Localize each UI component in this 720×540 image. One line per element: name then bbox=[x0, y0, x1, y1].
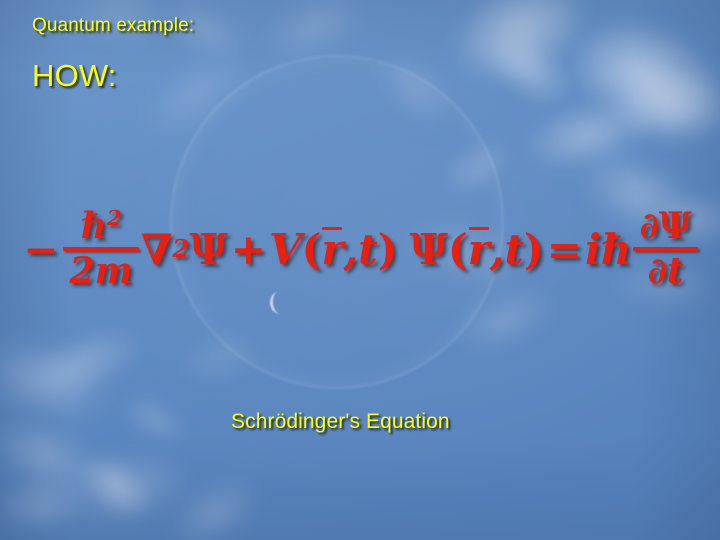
equation-caption: Schrödinger's Equation bbox=[231, 411, 450, 432]
eq-equals-sign: = bbox=[544, 225, 585, 274]
eq-time-variable: t bbox=[504, 225, 523, 274]
eq-comma: , bbox=[344, 225, 359, 274]
eq-open-paren: ( bbox=[448, 225, 468, 274]
presentation-slide: Quantum example: HOW: − ℏ2 2m ∇2 Ψ + V (… bbox=[0, 0, 720, 540]
slide-subtitle: Quantum example: bbox=[32, 16, 194, 35]
eq-fraction-dpsi-over-dt: ∂Ψ ∂t bbox=[633, 208, 697, 290]
schrodinger-equation: − ℏ2 2m ∇2 Ψ + V ( r , t ) Ψ ( r , t ) =… bbox=[0, 186, 720, 312]
eq-nabla: ∇ bbox=[141, 225, 173, 274]
eq-denominator: 2m bbox=[63, 253, 138, 290]
eq-position-vector: r bbox=[321, 225, 343, 274]
slide-heading: HOW: bbox=[32, 60, 117, 91]
eq-psi: Ψ bbox=[659, 204, 692, 247]
eq-partial: ∂ bbox=[639, 204, 658, 247]
eq-exponent: 2 bbox=[107, 205, 122, 230]
eq-imaginary-unit: i bbox=[585, 225, 601, 274]
eq-numerator: ℏ2 bbox=[75, 208, 128, 245]
eq-close-paren: ) bbox=[378, 225, 398, 274]
eq-psi: Ψ bbox=[189, 225, 227, 274]
eq-numerator: ∂Ψ bbox=[633, 208, 697, 245]
eq-plus-sign: + bbox=[228, 225, 269, 274]
eq-hbar: ℏ bbox=[81, 204, 107, 247]
eq-position-vector: r bbox=[468, 225, 490, 274]
eq-open-paren: ( bbox=[302, 225, 322, 274]
eq-comma: , bbox=[490, 225, 505, 274]
eq-potential-V: V bbox=[269, 225, 302, 274]
eq-minus-sign: − bbox=[20, 225, 61, 274]
eq-time-variable: t bbox=[358, 225, 377, 274]
eq-denominator: ∂t bbox=[642, 253, 690, 290]
eq-psi: Ψ bbox=[409, 225, 447, 274]
eq-fraction-hbar-over-2m: ℏ2 2m bbox=[63, 208, 138, 290]
eq-hbar: ℏ bbox=[601, 225, 632, 274]
eq-close-paren: ) bbox=[524, 225, 544, 274]
